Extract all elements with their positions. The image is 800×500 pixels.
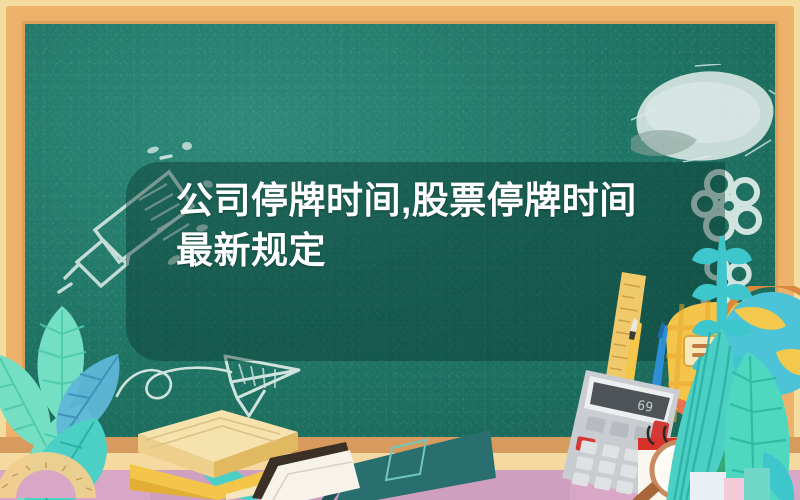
page-title: 公司停牌时间,股票停牌时间最新规定 xyxy=(176,176,646,276)
protractor-left xyxy=(0,440,102,500)
paper-sheets xyxy=(250,440,390,500)
misc-supplies xyxy=(690,462,770,500)
calculator-display-value: 69 xyxy=(636,398,654,416)
cover-image-canvas: 公司停牌时间,股票停牌时间最新规定 xyxy=(0,0,800,500)
